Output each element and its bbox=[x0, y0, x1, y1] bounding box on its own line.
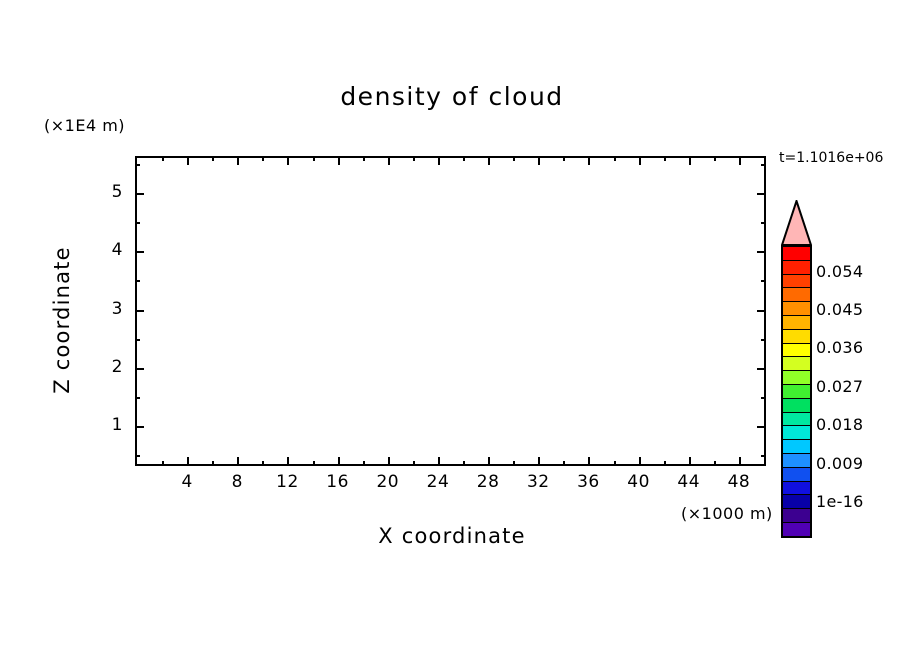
x-tick-label: 44 bbox=[669, 472, 709, 492]
colorbar-band bbox=[783, 247, 810, 260]
colorbar-band bbox=[783, 260, 810, 274]
colorbar-band bbox=[783, 398, 810, 412]
colorbar-tick-label: 1e-16 bbox=[816, 492, 864, 511]
colorbar-band bbox=[783, 370, 810, 384]
x-tick-label: 8 bbox=[217, 472, 257, 492]
colorbar-band bbox=[783, 315, 810, 329]
x-tick-label: 36 bbox=[568, 472, 608, 492]
y-tick-label: 1 bbox=[83, 415, 123, 435]
colorbar-band bbox=[783, 425, 810, 439]
colorbar-band bbox=[783, 287, 810, 301]
colorbar: 0.0540.0450.0360.0270.0180.0091e-16 bbox=[779, 200, 899, 490]
x-tick-label: 40 bbox=[619, 472, 659, 492]
colorbar-band bbox=[783, 329, 810, 343]
colorbar-band bbox=[783, 356, 810, 370]
colorbar-band bbox=[783, 439, 810, 453]
x-tick-label: 24 bbox=[418, 472, 458, 492]
colorbar-band bbox=[783, 412, 810, 426]
axis-tick-labels: 481216202428323640444812345 bbox=[0, 0, 904, 654]
colorbar-band bbox=[783, 467, 810, 481]
colorbar-band bbox=[783, 384, 810, 398]
colorbar-band bbox=[783, 481, 810, 495]
y-tick-label: 4 bbox=[83, 240, 123, 260]
x-tick-label: 48 bbox=[719, 472, 759, 492]
colorbar-band bbox=[783, 522, 810, 536]
colorbar-tick-label: 0.009 bbox=[816, 454, 863, 473]
colorbar-tick-label: 0.045 bbox=[816, 300, 863, 319]
colorbar-tick-label: 0.054 bbox=[816, 262, 863, 281]
colorbar-band bbox=[783, 494, 810, 508]
y-tick-label: 2 bbox=[83, 357, 123, 377]
colorbar-band bbox=[783, 274, 810, 288]
colorbar-tick-label: 0.036 bbox=[816, 338, 863, 357]
x-tick-label: 12 bbox=[267, 472, 307, 492]
colorbar-band bbox=[783, 453, 810, 467]
y-tick-label: 3 bbox=[83, 299, 123, 319]
x-tick-label: 4 bbox=[167, 472, 207, 492]
colorbar-band bbox=[783, 343, 810, 357]
x-tick-label: 32 bbox=[518, 472, 558, 492]
x-tick-label: 16 bbox=[318, 472, 358, 492]
colorbar-tick-label: 0.018 bbox=[816, 415, 863, 434]
colorbar-tick-label: 0.027 bbox=[816, 377, 863, 396]
x-tick-label: 20 bbox=[368, 472, 408, 492]
colorbar-band bbox=[783, 508, 810, 522]
colorbar-arrow-cap bbox=[781, 200, 812, 246]
y-tick-label: 5 bbox=[83, 182, 123, 202]
colorbar-band bbox=[783, 301, 810, 315]
colorbar-bands bbox=[781, 245, 812, 538]
x-tick-label: 28 bbox=[468, 472, 508, 492]
